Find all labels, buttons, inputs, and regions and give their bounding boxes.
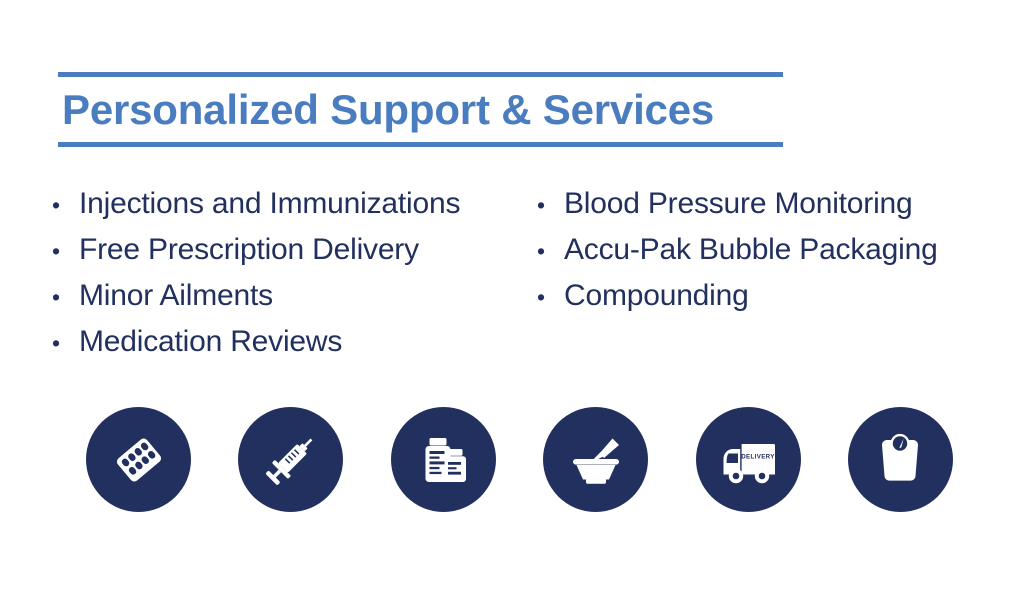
pill-bottles-icon — [412, 429, 474, 491]
bullet-icon: • — [52, 228, 79, 274]
bullet-icon: • — [537, 274, 564, 320]
list-item-label: Accu-Pak Bubble Packaging — [564, 227, 938, 273]
blister-pack-icon — [108, 429, 170, 491]
truck-side-label: DELIVERY — [741, 453, 775, 460]
title-rule-bottom — [58, 142, 783, 147]
icon-badge-delivery-truck: DELIVERY — [696, 407, 801, 512]
services-list-right: • Blood Pressure Monitoring • Accu-Pak B… — [537, 181, 1002, 319]
list-item-label: Medication Reviews — [79, 319, 342, 365]
list-item-label: Injections and Immunizations — [79, 181, 460, 227]
list-item: • Injections and Immunizations — [52, 181, 537, 227]
weight-scale-icon — [869, 429, 931, 491]
bullet-icon: • — [537, 228, 564, 274]
service-icon-strip: DELIVERY — [86, 407, 953, 512]
icon-badge-pill-bottles — [391, 407, 496, 512]
list-item-label: Free Prescription Delivery — [79, 227, 419, 273]
page-title: Personalized Support & Services — [58, 77, 783, 142]
icon-badge-weight-scale — [848, 407, 953, 512]
list-item: • Blood Pressure Monitoring — [537, 181, 1002, 227]
list-item: • Compounding — [537, 273, 1002, 319]
services-lists: • Injections and Immunizations • Free Pr… — [52, 181, 1002, 365]
delivery-truck-icon: DELIVERY — [715, 427, 781, 493]
syringe-icon — [260, 429, 322, 491]
slide-canvas: Personalized Support & Services • Inject… — [0, 0, 1025, 590]
list-item: • Free Prescription Delivery — [52, 227, 537, 273]
icon-badge-syringe — [238, 407, 343, 512]
list-item: • Accu-Pak Bubble Packaging — [537, 227, 1002, 273]
list-item-label: Compounding — [564, 273, 749, 319]
list-item: • Medication Reviews — [52, 319, 537, 365]
icon-badge-mortar-pestle — [543, 407, 648, 512]
title-block: Personalized Support & Services — [58, 72, 783, 147]
services-list-left: • Injections and Immunizations • Free Pr… — [52, 181, 537, 365]
bullet-icon: • — [52, 320, 79, 366]
bullet-icon: • — [52, 274, 79, 320]
bullet-icon: • — [52, 182, 79, 228]
list-item: • Minor Ailments — [52, 273, 537, 319]
mortar-pestle-icon — [564, 428, 628, 492]
list-item-label: Blood Pressure Monitoring — [564, 181, 913, 227]
icon-badge-blister-pack — [86, 407, 191, 512]
bullet-icon: • — [537, 182, 564, 228]
list-item-label: Minor Ailments — [79, 273, 273, 319]
